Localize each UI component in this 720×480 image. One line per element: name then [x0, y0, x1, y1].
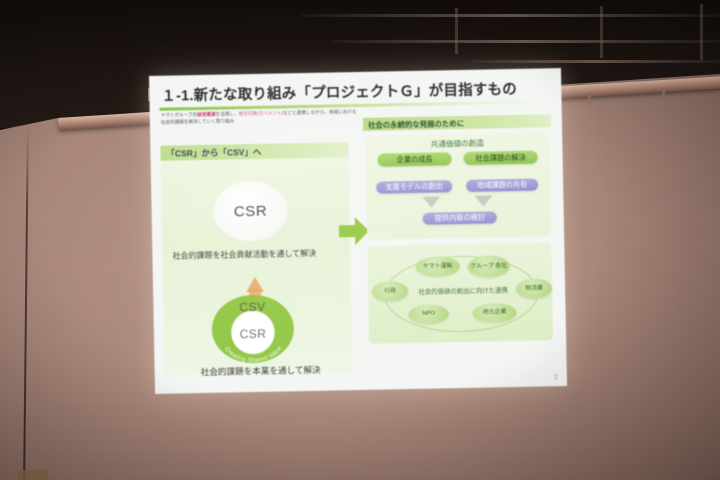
caption-csv: 社会的課題を本業を通して解決 [173, 363, 349, 378]
shared-value-box: 共通価値の創造 企業の成長 社会課題の解決 支援モデルの創出 地域課題の共有 提… [365, 132, 551, 240]
pill-social-issue-solution: 社会課題の解決 [464, 151, 538, 165]
csr-circle: CSR [213, 180, 288, 241]
pill-company-growth: 企業の成長 [378, 152, 452, 166]
csv-donut: CSV CSR Creating Shared Value [211, 294, 294, 364]
right-panel-header-label: 社会の永続的な発展のために [368, 117, 464, 130]
csv-curve-label: Creating Shared Value [223, 344, 284, 364]
slide-page-number: 2 [554, 374, 558, 381]
pill-support-model: 支援モデルの創出 [376, 180, 452, 193]
balcony-post-icon [455, 8, 458, 54]
lead-part-2: を活用し、 [216, 111, 239, 116]
right-panel-header: 社会の永続的な発展のために [363, 114, 551, 131]
caption-csr: 社会的課題を社会貢献活動を通して解決 [172, 247, 342, 261]
slide-lead-text: ヤマトグループの経営資源を活用し、地方行政(ガバメント)などと連携しながら、地域… [161, 109, 357, 126]
projector-room-photo: １-1.新たな取り組み「プロジェクトＧ」が目指すもの ヤマトグループの経営資源を… [0, 0, 720, 480]
csr-circle-label: CSR [234, 202, 268, 220]
balcony-rail-icon [330, 40, 720, 43]
balcony-post-icon [600, 6, 603, 58]
creating-shared-value-arc: Creating Shared Value [211, 294, 294, 364]
lead-highlight-1: 経営資源 [197, 112, 215, 117]
pill-regional-issue-sharing: 地域課題の共有 [466, 179, 538, 192]
right-panel: 社会の永続的な発展のために 共通価値の創造 企業の成長 社会課題の解決 支援モデ… [363, 114, 556, 374]
node-logistics-industry: 物流業 [516, 278, 552, 299]
collaboration-network: 社会的価値の創出に向けた連携 ヤマト運輸 グループ 各社 行政 NPO 地元企業… [367, 242, 553, 344]
balcony-post-icon [700, 4, 703, 60]
down-arrow-icon [422, 196, 440, 207]
left-panel-header-label: 「CSR」から「CSV」へ [166, 146, 261, 160]
projected-slide: １-1.新たな取り組み「プロジェクトＧ」が目指すもの ヤマトグループの経営資源を… [149, 68, 567, 394]
balcony-rail-icon [300, 14, 720, 17]
lead-part-1: ヤマトグループの [161, 112, 198, 118]
down-arrow-icon [474, 195, 492, 206]
left-panel-body: CSR 社会的課題を社会貢献活動を通して解決 CSV CSR Creating … [161, 157, 353, 376]
floor-edge [18, 470, 48, 480]
pill-offering-review: 提供内容の検討 [423, 211, 497, 224]
ceiling-hook-icon [588, 92, 591, 105]
left-panel: 「CSR」から「CSV」へ CSR 社会的課題を社会貢献活動を通して解決 CSV… [160, 142, 352, 376]
svg-text:Creating Shared Value: Creating Shared Value [223, 344, 284, 364]
ceiling-hook-icon [662, 88, 665, 101]
lead-highlight-2: 地方行政(ガバメント) [239, 110, 283, 116]
shared-value-subhead: 共通価値の創造 [365, 136, 549, 151]
balcony-rail-icon [470, 60, 720, 63]
